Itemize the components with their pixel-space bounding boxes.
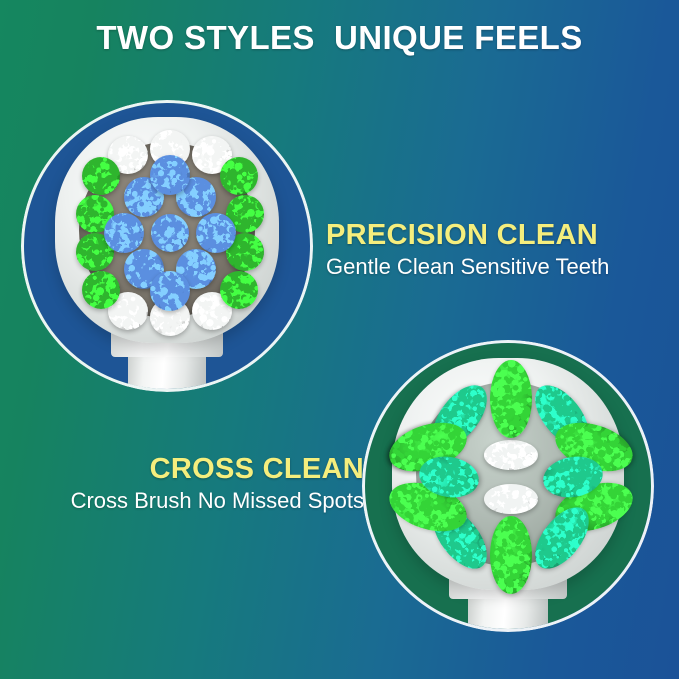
cross-clean-title: CROSS CLEAN bbox=[14, 452, 364, 486]
precision-clean-title: PRECISION CLEAN bbox=[326, 218, 609, 252]
cross-clean-callout: CROSS CLEAN Cross Brush No Missed Spots bbox=[14, 452, 364, 516]
bristle-tuft bbox=[220, 271, 258, 309]
cross-badge-disc bbox=[365, 343, 651, 629]
bristle-tuft bbox=[150, 155, 190, 195]
cross-clean-subtitle: Cross Brush No Missed Spots bbox=[14, 486, 364, 516]
bristle-tuft bbox=[484, 440, 538, 470]
precision-clean-callout: PRECISION CLEAN Gentle Clean Sensitive T… bbox=[326, 218, 609, 282]
bristle-tuft bbox=[490, 360, 532, 438]
page-title: TWO STYLES UNIQUE FEELS bbox=[0, 18, 679, 58]
bristle-tuft bbox=[220, 157, 258, 195]
bristle-tuft bbox=[104, 213, 144, 253]
bristle-tuft bbox=[82, 157, 120, 195]
bristle-tuft bbox=[196, 213, 236, 253]
bristle-tuft bbox=[82, 271, 120, 309]
bristle-tuft bbox=[151, 214, 189, 252]
precision-brush-head bbox=[24, 103, 310, 389]
precision-badge-disc bbox=[24, 103, 310, 389]
bristle-tuft bbox=[484, 484, 538, 514]
cross-clean-badge bbox=[362, 340, 654, 632]
precision-clean-subtitle: Gentle Clean Sensitive Teeth bbox=[326, 252, 609, 282]
cross-brush-head bbox=[365, 343, 651, 629]
product-feature-image: TWO STYLES UNIQUE FEELS bbox=[0, 0, 679, 679]
bristle-tuft bbox=[150, 271, 190, 311]
bristle-tuft bbox=[490, 516, 532, 594]
precision-clean-badge bbox=[21, 100, 313, 392]
